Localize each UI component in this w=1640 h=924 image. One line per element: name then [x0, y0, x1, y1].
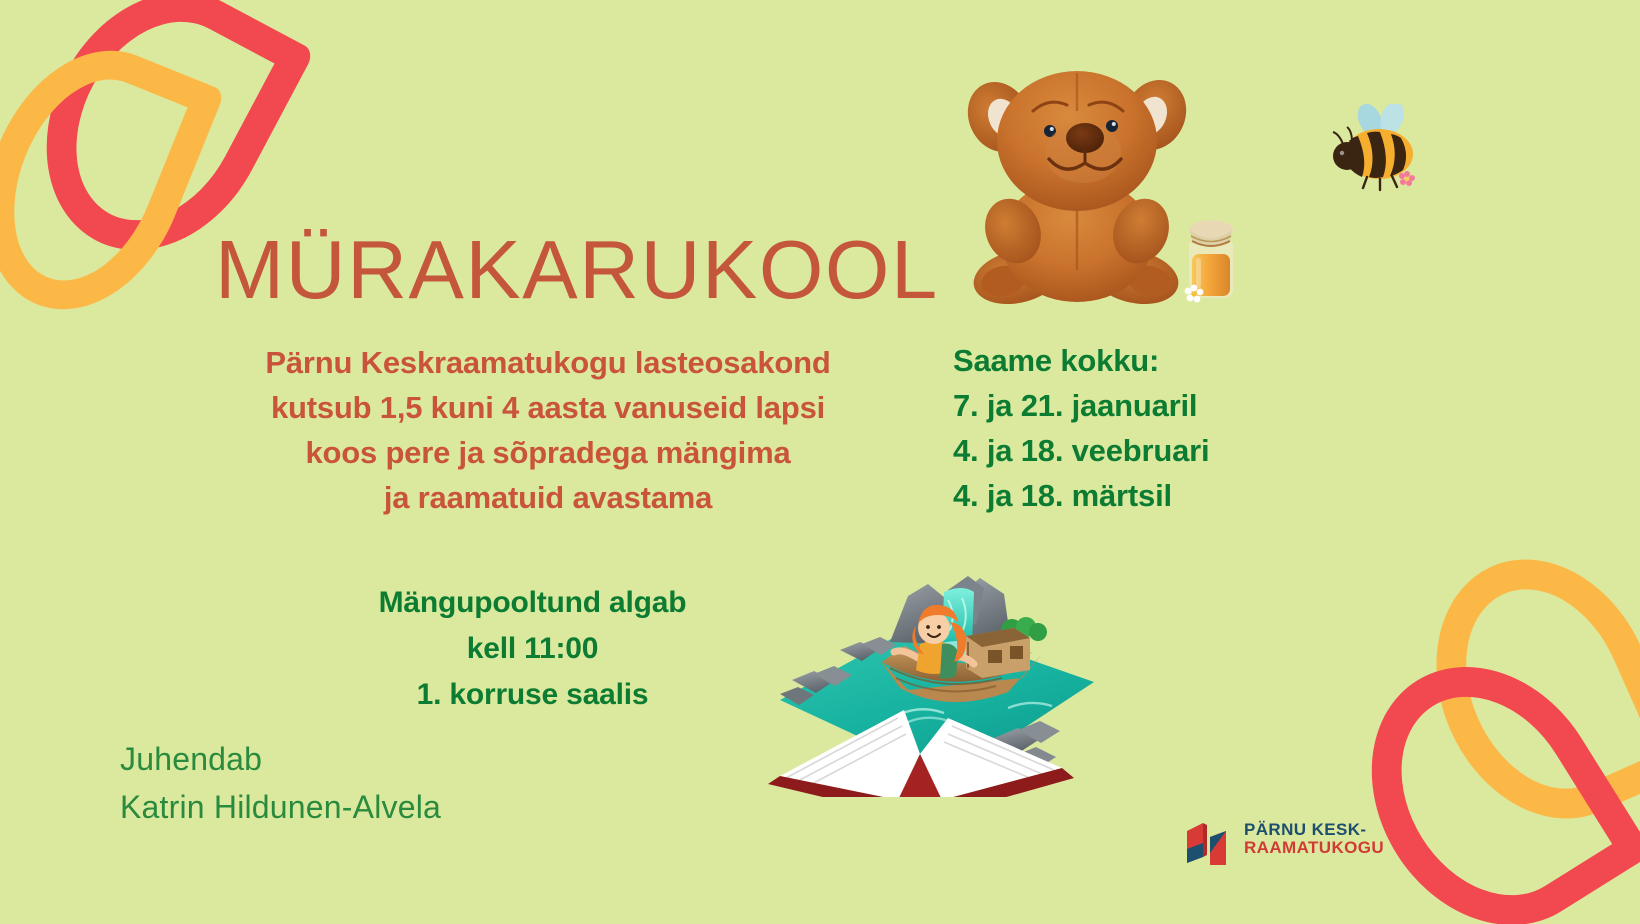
intro-line-2: kutsub 1,5 kuni 4 aasta vanuseid lapsi [168, 385, 928, 430]
time-line-1: Mängupooltund algab [180, 580, 885, 626]
petal-loop-orange-top-left [0, 20, 225, 340]
time-and-place-block: Mängupooltund algab kell 11:00 1. korrus… [180, 580, 885, 718]
host-block: Juhendab Katrin Hildunen-Alvela [120, 735, 441, 831]
teddy-bear-icon [955, 55, 1200, 305]
time-line-2: kell 11:00 [180, 626, 885, 672]
date-line-january: 7. ja 21. jaanuaril [953, 383, 1209, 428]
library-logo-mark-icon [1183, 813, 1235, 865]
library-logo-line-1: PÄRNU KESK- [1244, 821, 1384, 839]
time-line-3: 1. korruse saalis [180, 672, 885, 718]
library-logo-line-2: RAAMATUKOGU [1244, 839, 1384, 857]
page-title: MÜRAKARUKOOL [215, 222, 939, 318]
poster-canvas: MÜRAKARUKOOL Pärnu Keskraamatukogu laste… [0, 0, 1640, 924]
intro-line-3: koos pere ja sõpradega mängima [168, 430, 928, 475]
intro-line-4: ja raamatuid avastama [168, 475, 928, 520]
meeting-dates-block: Saame kokku: 7. ja 21. jaanuaril 4. ja 1… [953, 338, 1209, 518]
intro-paragraph: Pärnu Keskraamatukogu lasteosakond kutsu… [168, 340, 928, 520]
date-line-march: 4. ja 18. märtsil [953, 473, 1209, 518]
date-line-february: 4. ja 18. veebruari [953, 428, 1209, 473]
honey-jar-icon [1180, 212, 1242, 304]
petal-loop-orange-bottom-right [1396, 524, 1640, 853]
bee-icon [1322, 104, 1427, 196]
host-name: Katrin Hildunen-Alvela [120, 783, 441, 831]
intro-line-1: Pärnu Keskraamatukogu lasteosakond [168, 340, 928, 385]
library-logo-text: PÄRNU KESK- RAAMATUKOGU [1244, 821, 1384, 857]
petal-loop-red-bottom-right [1324, 623, 1640, 924]
host-label: Juhendab [120, 735, 441, 783]
dates-heading: Saame kokku: [953, 338, 1209, 383]
library-logo: PÄRNU KESK- RAAMATUKOGU [1183, 808, 1413, 870]
